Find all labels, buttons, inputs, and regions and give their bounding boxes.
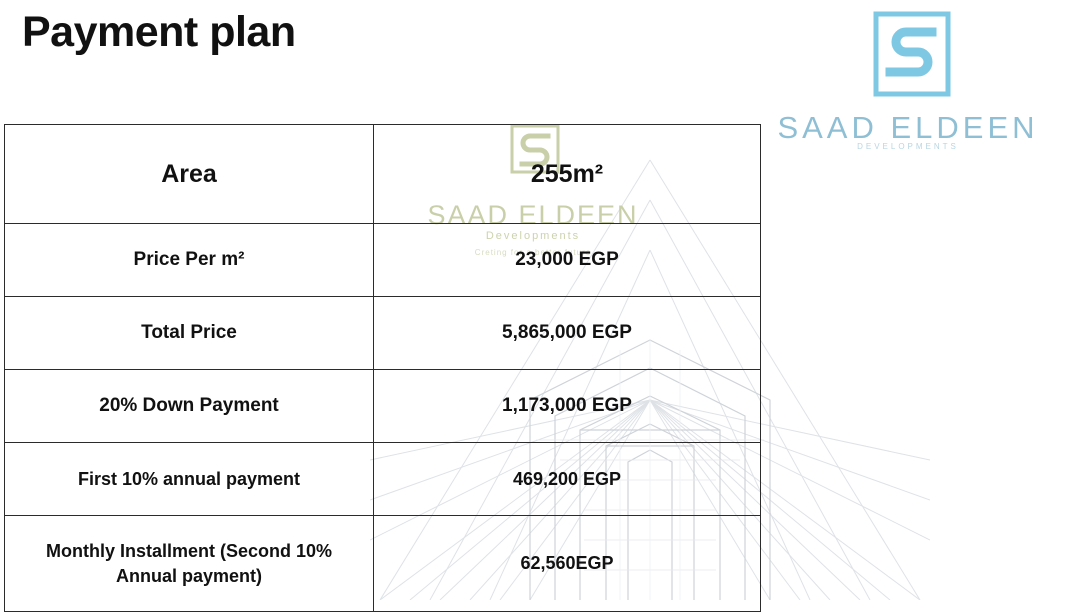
table-row: Area 255m² (5, 125, 761, 224)
row-value: 255m² (374, 125, 761, 224)
brand-monogram-icon (870, 8, 954, 100)
row-value: 5,865,000 EGP (374, 297, 761, 370)
row-label: Total Price (5, 297, 374, 370)
table-row: 20% Down Payment 1,173,000 EGP (5, 370, 761, 443)
row-label: Monthly Installment (Second 10% Annual p… (5, 516, 374, 612)
brand-logo: SAAD ELDEEN DEVELOPMENTS (772, 6, 1044, 151)
brand-name: SAAD ELDEEN (772, 110, 1044, 146)
table-row: Monthly Installment (Second 10% Annual p… (5, 516, 761, 612)
payment-plan-table: Area 255m² Price Per m² 23,000 EGP Total… (4, 124, 761, 612)
page-title: Payment plan (22, 8, 296, 57)
table-row: Price Per m² 23,000 EGP (5, 224, 761, 297)
row-value: 469,200 EGP (374, 443, 761, 516)
row-label: 20% Down Payment (5, 370, 374, 443)
row-value: 1,173,000 EGP (374, 370, 761, 443)
row-value: 23,000 EGP (374, 224, 761, 297)
row-label: Price Per m² (5, 224, 374, 297)
row-value: 62,560EGP (374, 516, 761, 612)
table-row: First 10% annual payment 469,200 EGP (5, 443, 761, 516)
table-row: Total Price 5,865,000 EGP (5, 297, 761, 370)
row-label: First 10% annual payment (5, 443, 374, 516)
row-label: Area (5, 125, 374, 224)
brand-subtitle: DEVELOPMENTS (772, 142, 1044, 151)
